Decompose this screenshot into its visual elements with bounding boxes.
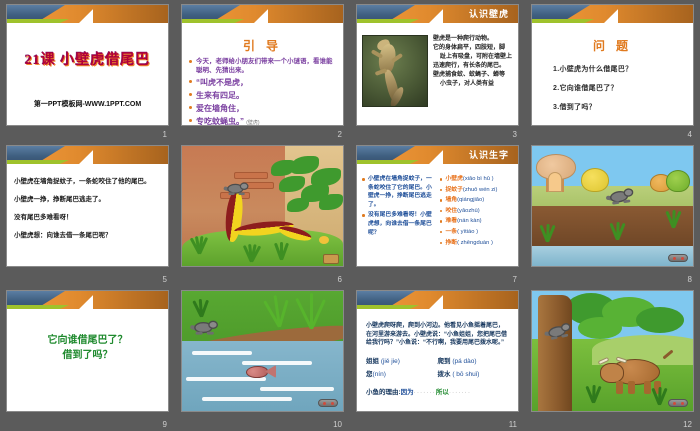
story-line: 小壁虎想：向谁去借一条尾巴呢？: [14, 231, 161, 240]
reason-label: 小鱼的理由:: [366, 389, 401, 396]
list-item: 没有尾巴多难看呀！小壁虎想，向谁去借一条尾巴呢？: [362, 211, 436, 237]
nav-badge[interactable]: [668, 254, 688, 262]
grass-tuft: [648, 385, 670, 405]
pinyin-reading: ( bō shuǐ): [452, 371, 479, 378]
description-line: 它的身体扁平，四肢短，脚: [433, 44, 512, 53]
gecko-leg: [612, 201, 619, 205]
story-line: 小壁虎在墙角捉蚊子，一条蛇咬住了他的尾巴。: [14, 177, 161, 186]
fish: [246, 365, 276, 379]
page-title: 21课 小壁虎借尾巴: [7, 49, 168, 69]
vocab-item: 咬住(yǎozhù): [440, 207, 514, 216]
vocab-pinyin: (xiǎo bì hǔ ): [463, 176, 494, 182]
slide-cell-6[interactable]: 6: [175, 141, 350, 286]
vocab-item: 墙角(qiángjiǎo): [440, 196, 514, 205]
fish-tail: [265, 365, 276, 378]
slide-banner: 认识壁虎: [357, 5, 518, 31]
gecko-leg: [239, 193, 245, 196]
reason-keyword-therefore: 所以: [436, 389, 449, 396]
grass-tuft: [270, 240, 292, 260]
nav-badge[interactable]: [318, 399, 338, 407]
gecko-icon: [190, 318, 218, 340]
list-item: 今天，老师给小朋友们带来一个小谜语，看谁能聪明、先猜出来。: [189, 57, 336, 75]
grass-tuft: [188, 234, 210, 254]
slide-cell-8[interactable]: 8: [525, 141, 700, 286]
slide-5[interactable]: 小壁虎在墙角捉蚊子，一条蛇咬住了他的尾巴。 小壁虎一挣，挣断尾巴逃走了。 没有尾…: [6, 145, 169, 267]
story-paragraph: 小壁虎爬呀爬，爬到小河边。他看见小鱼摇着尾巴，在河里游来游去。小壁虎说：“小鱼姐…: [364, 322, 511, 348]
vocab-word: 捉蚊子: [446, 187, 463, 193]
brick: [234, 172, 268, 179]
vocab-passage-column: 小壁虎在墙角捉蚊子，一条蛇咬住了它的尾巴。小壁虎一挣，挣断尾巴逃走了。 没有尾巴…: [362, 175, 436, 249]
slide-banner: [7, 146, 168, 172]
grass-tuft: [190, 297, 212, 317]
reason-dots: ·······: [414, 389, 436, 396]
banner-title: 认识壁虎: [469, 7, 509, 20]
grass-tuft: [268, 293, 290, 327]
slide-body: 壁虎是一种爬行动物。 它的身体扁平，四肢短，脚 趾上有吸盘，可附在墙壁上 迅速爬…: [357, 31, 518, 111]
illustration-gecko-bull: [532, 291, 693, 411]
vocab-word-column: 小壁虎(xiǎo bì hǔ ) 捉蚊子(zhuō wén zi) 墙角(qiá…: [440, 175, 514, 249]
illustration-snake-gecko: [182, 146, 343, 266]
grass-tuft: [536, 222, 558, 242]
leaf: [319, 194, 343, 210]
slide-cell-2[interactable]: 引 导 今天，老师给小朋友们带来一个小谜语，看谁能聪明、先猜出来。 “叫虎不是虎…: [175, 0, 350, 141]
slide-body: 它向谁借尾巴了？ 借到了吗？: [7, 333, 168, 363]
bull-leg: [628, 381, 635, 394]
fish-body: [246, 366, 268, 378]
slide-cell-9[interactable]: 它向谁借尾巴了？ 借到了吗？ 9: [0, 286, 175, 431]
slide-10[interactable]: [181, 290, 344, 412]
pinyin-reading: (pá dào): [452, 358, 476, 365]
vocab-item: 挣断( zhēngduàn ): [440, 239, 514, 248]
reason-dots: ·······: [449, 389, 471, 396]
slide-number: 8: [688, 275, 692, 285]
description-line: 趾上有吸盘，可附在墙壁上: [433, 53, 512, 62]
story-line: 小壁虎一挣，挣断尾巴逃走了。: [14, 195, 161, 204]
slide-number: 5: [163, 275, 167, 285]
description-text: 壁虎是一种爬行动物。 它的身体扁平，四肢短，脚 趾上有吸盘，可附在墙壁上 迅速爬…: [433, 35, 512, 107]
pinyin-reading: (jiě jie): [381, 358, 400, 365]
gecko-icon: [224, 180, 249, 200]
bullet-list: 今天，老师给小朋友们带来一个小谜语，看谁能聪明、先猜出来。 “叫虎不是虎， 生来…: [189, 57, 336, 126]
question-line: 借到了吗？: [7, 348, 168, 363]
slide-body: 引 导 今天，老师给小朋友们带来一个小谜语，看谁能聪明、先猜出来。 “叫虎不是虎…: [182, 31, 343, 126]
pinyin-grid: 姐姐 (jiě jie) 爬到 (pá dào) 您(nín) 拨水 ( bō …: [364, 355, 511, 378]
grass-tuft: [582, 383, 604, 403]
gecko-photo: [362, 35, 428, 107]
tree: [265, 154, 343, 226]
vocab-pinyin: ( zhēngduàn ): [457, 240, 493, 246]
slide-number: 6: [338, 275, 342, 285]
slide-banner: [532, 5, 693, 31]
vocab-word: 小壁虎: [446, 176, 463, 182]
chick: [319, 236, 329, 244]
wave: [260, 387, 334, 391]
gecko-leg: [196, 332, 203, 335]
vocab-pinyin: ( yìtiáo ): [457, 229, 478, 235]
slide-number: 1: [163, 130, 167, 140]
mushroom-cap: [666, 170, 690, 192]
description-line: 壁虎是一种爬行动物。: [433, 35, 512, 44]
slide-number: 4: [688, 130, 692, 140]
pinyin-word: 姐姐: [366, 358, 379, 365]
slide-8[interactable]: [531, 145, 694, 267]
description-line: 壁虎捕食蚊、蚊蝇子、蝉等: [433, 71, 512, 80]
gecko-head: [208, 321, 218, 329]
gecko-leg: [623, 199, 630, 203]
gecko-head: [240, 183, 249, 191]
vocab-pinyin: (zhuō wén zi): [463, 187, 497, 193]
slide-banner: [357, 291, 518, 317]
leaf: [279, 176, 305, 192]
slide-body: 问 题 1.小壁虎为什么借尾巴？ 2.它向谁借尾巴了？ 3.借到了吗？: [532, 31, 693, 126]
slide-cell-10[interactable]: 10: [175, 286, 350, 431]
gecko-head: [623, 188, 634, 198]
slide-banner: 认识生字: [357, 146, 518, 172]
reason-keyword-because: 因为: [401, 389, 414, 396]
question-item: 3.借到了吗？: [553, 102, 686, 112]
slide-7[interactable]: 认识生字 小壁虎在墙角捉蚊子，一条蛇咬住了它的尾巴。小壁虎一挣，挣断尾巴逃走了。…: [356, 145, 519, 267]
vocab-item: 捉蚊子(zhuō wén zi): [440, 186, 514, 195]
gecko-icon: [605, 185, 636, 211]
bull-leg: [616, 381, 623, 394]
slide-banner: [182, 5, 343, 31]
story-line: 没有尾巴多难看呀！: [14, 213, 161, 222]
pinyin-word: 爬到: [438, 358, 451, 365]
slide-number: 7: [513, 275, 517, 285]
slide-6[interactable]: [181, 145, 344, 267]
basket: [323, 254, 339, 264]
nav-badge[interactable]: [668, 399, 688, 407]
banner-title: 认识生字: [469, 148, 509, 161]
slide-cell-12[interactable]: 12: [525, 286, 700, 431]
slide-banner: [7, 5, 168, 31]
description-line: 小虫子，对人类有益: [433, 80, 512, 89]
slide-9[interactable]: 它向谁借尾巴了？ 借到了吗？: [6, 290, 169, 412]
slide-number: 12: [683, 420, 692, 430]
tree-canopy: [578, 317, 622, 339]
slide-12[interactable]: [531, 290, 694, 412]
grass-tuft: [300, 291, 322, 329]
question-item: 2.它向谁借尾巴了？: [553, 83, 686, 93]
wave: [202, 397, 292, 401]
slide-cell-3[interactable]: 认识壁虎 壁虎是一种爬行动物。 它的身体扁平，四肢短，脚 趾上有吸盘，可附在墙壁…: [350, 0, 525, 141]
question-list: 1.小壁虎为什么借尾巴？ 2.它向谁借尾巴了？ 3.借到了吗？: [539, 64, 686, 112]
passage-list: 小壁虎在墙角捉蚊子，一条蛇咬住了它的尾巴。小壁虎一挣，挣断尾巴逃走了。 没有尾巴…: [362, 175, 436, 237]
slide-2[interactable]: 引 导 今天，老师给小朋友们带来一个小谜语，看谁能聪明、先猜出来。 “叫虎不是虎…: [181, 4, 344, 126]
slide-number: 9: [163, 420, 167, 430]
answer-note: (壁虎): [246, 120, 259, 126]
list-item: 爱在墙角住，: [189, 103, 336, 114]
slide-cell-1[interactable]: 21课 小壁虎借尾巴 第一PPT模板网-WWW.1PPT.COM 1: [0, 0, 175, 141]
pinyin-item: 姐姐 (jiě jie): [366, 355, 438, 365]
slide-4[interactable]: 问 题 1.小壁虎为什么借尾巴？ 2.它向谁借尾巴了？ 3.借到了吗？: [531, 4, 694, 126]
gecko-leg: [229, 193, 235, 196]
pinyin-reading: (nín): [373, 371, 386, 378]
slide-1[interactable]: 21课 小壁虎借尾巴 第一PPT模板网-WWW.1PPT.COM: [6, 4, 169, 126]
description-line: 迅速爬行，有长条的尾巴。: [433, 62, 512, 71]
slide-number: 11: [509, 420, 517, 430]
slide-number: 3: [513, 130, 517, 140]
list-item: 生来有四足。: [189, 90, 336, 101]
slide-cell-11[interactable]: 小壁虎爬呀爬，爬到小河边。他看见小鱼摇着尾巴，在河里游来游去。小壁虎说：“小鱼姐…: [350, 286, 525, 431]
pinyin-word: 拨水: [438, 371, 451, 378]
vocab-pinyin: (nán kàn): [457, 218, 482, 224]
slide-cell-7[interactable]: 认识生字 小壁虎在墙角捉蚊子，一条蛇咬住了它的尾巴。小壁虎一挣，挣断尾巴逃走了。…: [350, 141, 525, 286]
slide-banner: [7, 291, 168, 317]
vocab-word: 难看: [446, 218, 458, 224]
vocab-list: 小壁虎(xiǎo bì hǔ ) 捉蚊子(zhuō wén zi) 墙角(qiá…: [440, 175, 514, 247]
list-item: 专吃蚊蝇虫。” (壁虎): [189, 116, 336, 126]
tree-canopy: [636, 307, 684, 333]
pinyin-item: 爬到 (pá dào): [438, 355, 510, 365]
vocab-pinyin: (qiángjiǎo): [457, 197, 484, 203]
reason-line: 小鱼的理由:因为·······所以·······: [364, 386, 511, 396]
slide-grid: 21课 小壁虎借尾巴 第一PPT模板网-WWW.1PPT.COM 1 引 导 今…: [0, 0, 700, 431]
pinyin-item: 您(nín): [366, 368, 438, 378]
mushroom-door: [548, 172, 562, 192]
slide-body: 小壁虎爬呀爬，爬到小河边。他看见小鱼摇着尾巴，在河里游来游去。小壁虎说：“小鱼姐…: [357, 317, 518, 401]
grass-tuft: [606, 220, 628, 240]
slide-3[interactable]: 认识壁虎 壁虎是一种爬行动物。 它的身体扁平，四肢短，脚 趾上有吸盘，可附在墙壁…: [356, 4, 519, 126]
illustration-mushroom-houses: [532, 146, 693, 266]
vocab-word: 挣断: [446, 240, 458, 246]
slide-cell-4[interactable]: 问 题 1.小壁虎为什么借尾巴？ 2.它向谁借尾巴了？ 3.借到了吗？ 4: [525, 0, 700, 141]
leaf: [287, 198, 309, 212]
illustration-gecko-fish: [182, 291, 343, 411]
vocab-pinyin: (yǎozhù): [457, 208, 480, 214]
slide-body: 小壁虎在墙角捉蚊子，一条蛇咬住了他的尾巴。 小壁虎一挣，挣断尾巴逃走了。 没有尾…: [7, 172, 168, 254]
wave: [192, 351, 252, 355]
question-item: 1.小壁虎为什么借尾巴？: [553, 64, 686, 74]
gecko-leg: [561, 334, 568, 338]
vocab-word: 一条: [446, 229, 458, 235]
gecko-leg: [207, 332, 214, 335]
grass-tuft: [240, 242, 262, 262]
list-item-text: 专吃蚊蝇虫。”: [196, 117, 244, 126]
tree-trunk: [538, 295, 572, 411]
list-item: 小壁虎在墙角捉蚊子，一条蛇咬住了它的尾巴。小壁虎一挣，挣断尾巴逃走了。: [362, 175, 436, 209]
gecko-leg: [551, 336, 558, 340]
slide-11[interactable]: 小壁虎爬呀爬，爬到小河边。他看见小鱼摇着尾巴，在河里游来游去。小壁虎说：“小鱼姐…: [356, 290, 519, 412]
gecko-head: [560, 322, 571, 332]
list-item: “叫虎不是虎，: [189, 77, 336, 88]
section-heading: 引 导: [189, 37, 336, 54]
slide-cell-5[interactable]: 小壁虎在墙角捉蚊子，一条蛇咬住了他的尾巴。 小壁虎一挣，挣断尾巴逃走了。 没有尾…: [0, 141, 175, 286]
vocab-item: 小壁虎(xiǎo bì hǔ ): [440, 175, 514, 184]
section-heading: 问 题: [539, 37, 686, 54]
vocab-word: 墙角: [446, 197, 458, 203]
vocab-item: 一条( yìtiáo ): [440, 228, 514, 237]
question-line: 它向谁借尾巴了？: [7, 333, 168, 348]
bull-head: [600, 363, 624, 383]
slide-body: 小壁虎在墙角捉蚊子，一条蛇咬住了它的尾巴。小壁虎一挣，挣断尾巴逃走了。 没有尾巴…: [357, 172, 518, 252]
slide-number: 10: [333, 420, 342, 430]
vocab-word: 咬住: [446, 208, 458, 214]
pinyin-item: 拨水 ( bō shuǐ): [438, 368, 510, 378]
slide-number: 2: [338, 130, 342, 140]
source-credit: 第一PPT模板网-WWW.1PPT.COM: [7, 99, 168, 109]
grass-tuft: [662, 208, 684, 228]
vocab-item: 难看(nán kàn): [440, 217, 514, 226]
